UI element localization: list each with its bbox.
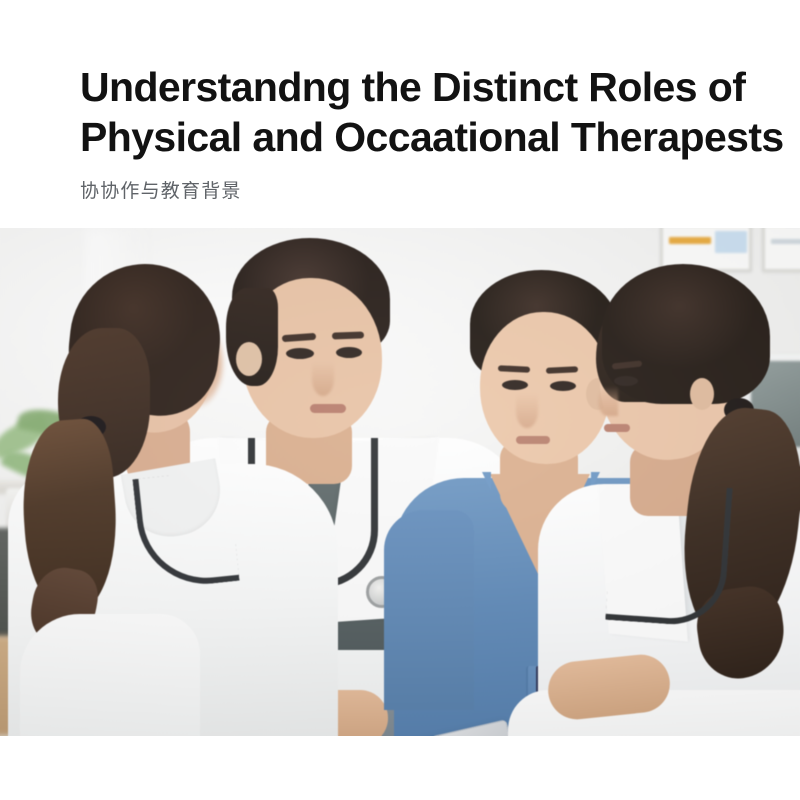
card-footer-strip (0, 736, 800, 800)
card-header: Understandng the Distinct Roles of Physi… (0, 0, 800, 228)
person-woman-white-coat-left (18, 268, 318, 736)
person-woman-white-coat-right (548, 258, 800, 736)
eye-left (502, 380, 528, 390)
eyebrow-right (332, 331, 364, 339)
nose (598, 386, 618, 416)
page-title-line-2: Physical and Occaational Therapests (80, 112, 740, 162)
eye (614, 376, 638, 386)
page-title: Understandng the Distinct Roles of Physi… (80, 62, 740, 162)
nose (516, 394, 538, 428)
eye-right (336, 347, 362, 358)
mouth (604, 424, 630, 432)
mouth (516, 436, 550, 444)
page-title-line-1: Understandng the Distinct Roles of (80, 62, 740, 112)
coat-sleeve (20, 614, 200, 736)
hero-photo (0, 228, 800, 736)
article-card: Understandng the Distinct Roles of Physi… (0, 0, 800, 800)
page-subtitle: 协协作与教育背景 (80, 178, 740, 204)
ear (690, 378, 714, 410)
arm-left (384, 510, 474, 710)
